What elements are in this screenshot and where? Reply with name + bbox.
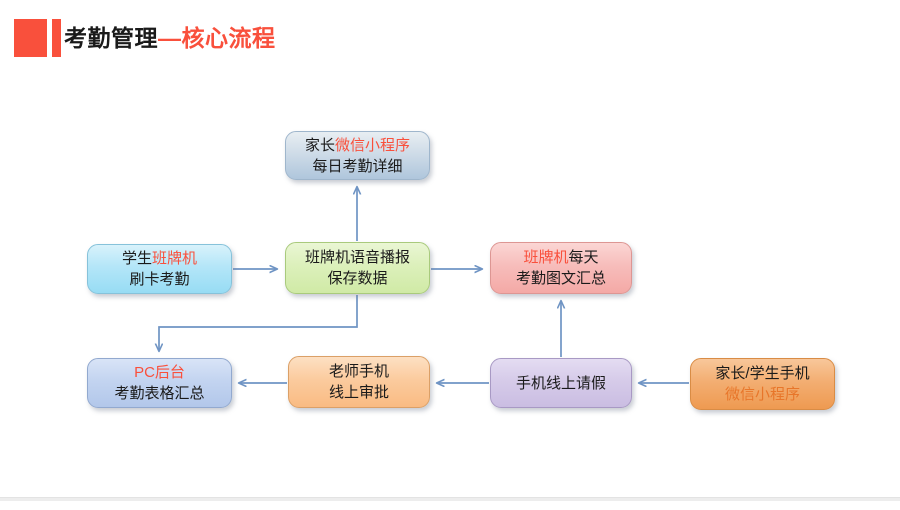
node-text-plain: 家长 — [305, 137, 335, 154]
node-line-2: 每日考勤详细 — [312, 156, 402, 177]
node-teacher-approval[interactable]: 老师手机 线上审批 — [288, 356, 430, 408]
node-line-2: 线上审批 — [329, 382, 389, 403]
node-line-2: 考勤表格汇总 — [114, 383, 204, 404]
node-device-broadcast[interactable]: 班牌机语音播报 保存数据 — [285, 242, 430, 294]
node-line-2: 考勤图文汇总 — [516, 268, 606, 289]
node-parent-student-phone[interactable]: 家长/学生手机 微信小程序 — [690, 358, 835, 410]
node-line-1: 班牌机语音播报 — [305, 247, 410, 268]
node-daily-summary[interactable]: 班牌机每天 考勤图文汇总 — [490, 242, 632, 294]
node-line-1: 老师手机 — [329, 361, 389, 382]
node-line-1: 手机线上请假 — [516, 373, 606, 394]
node-text-highlight: 微信小程序 — [335, 137, 410, 154]
node-line-1: 家长/学生手机 — [715, 363, 809, 384]
node-text-plain: 每天 — [569, 249, 599, 266]
node-text-highlight: 班牌机 — [152, 250, 197, 267]
node-mobile-leave-request[interactable]: 手机线上请假 — [490, 358, 632, 408]
node-line-1: 家长微信小程序 — [305, 135, 410, 156]
connector-device-to-pc — [159, 295, 357, 351]
node-line-2: 刷卡考勤 — [129, 269, 189, 290]
node-student-card[interactable]: 学生班牌机 刷卡考勤 — [87, 244, 232, 294]
node-line-2: 保存数据 — [327, 268, 387, 289]
node-line-2: 微信小程序 — [725, 384, 800, 405]
node-pc-backend[interactable]: PC后台 考勤表格汇总 — [87, 358, 232, 408]
node-text-plain: 学生 — [122, 250, 152, 267]
footer-divider — [0, 497, 900, 501]
node-parent-miniprogram[interactable]: 家长微信小程序 每日考勤详细 — [285, 131, 430, 180]
node-line-1: PC后台 — [134, 362, 185, 383]
node-text-highlight: 班牌机 — [523, 249, 568, 266]
node-line-1: 班牌机每天 — [523, 247, 598, 268]
node-line-1: 学生班牌机 — [122, 248, 197, 269]
flowchart-canvas: 家长微信小程序 每日考勤详细 学生班牌机 刷卡考勤 班牌机语音播报 保存数据 班… — [0, 0, 900, 510]
